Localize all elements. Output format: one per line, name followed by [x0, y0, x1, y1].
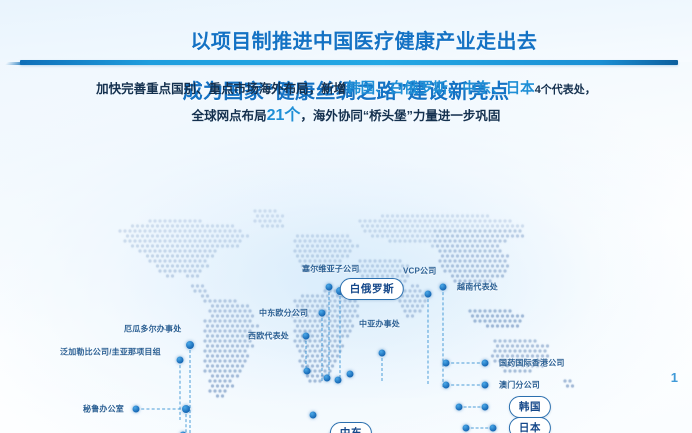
map-label-ecuador: 厄瓜多尔办事处 — [124, 324, 181, 335]
connector-line — [446, 363, 485, 364]
connector-line — [446, 385, 485, 386]
subtitle-count-unit: 个 — [284, 107, 300, 124]
subtitle-text-b: 4个代表处， — [535, 84, 596, 96]
map-label-peru: 秘鲁办公室 — [83, 404, 124, 415]
map-node-marker[interactable] — [379, 350, 386, 357]
map-node-marker[interactable] — [482, 360, 489, 367]
subtitle-line-1: 加快完善重点国别、重点市场海外布局，新增韩国、白俄罗斯、中东、日本4个代表处， — [0, 76, 692, 103]
subtitle-block: 加快完善重点国别、重点市场海外布局，新增韩国、白俄罗斯、中东、日本4个代表处， … — [0, 76, 692, 129]
map-label-west-europe: 西欧代表处 — [248, 331, 289, 342]
subtitle-highlight-middle-east: 中东 — [462, 81, 491, 97]
connector-line — [428, 294, 429, 384]
subtitle-text-a: 加快完善重点国别、重点市场海外布局，新增 — [96, 82, 346, 96]
subtitle-highlight-korea: 韩国 — [346, 81, 375, 97]
map-node-marker[interactable] — [482, 382, 489, 389]
subtitle-line-2: 全球网点布局21个，海外协同“桥头堡”力量进一步巩固 — [0, 103, 692, 129]
subtitle-highlight-japan: 日本 — [506, 81, 535, 97]
subtitle-highlight-belarus: 白俄罗斯 — [390, 81, 448, 97]
map-node-marker[interactable] — [443, 382, 450, 389]
map-node-marker[interactable] — [310, 412, 317, 419]
map-node-marker[interactable] — [490, 425, 497, 432]
map-label-hongkong: 国药国际香港公司 — [499, 358, 565, 369]
map-label-pan-caribbean: 泛加勒比公司/圭亚那项目组 — [60, 347, 161, 358]
connector-line — [340, 291, 341, 383]
map-node-marker[interactable] — [425, 291, 432, 298]
subtitle-text-c: 全球网点布局 — [192, 109, 267, 123]
map-node-marker[interactable] — [324, 375, 331, 382]
map-node-marker[interactable] — [463, 425, 470, 432]
world-map: 泛加勒比公司/圭亚那项目组厄瓜多尔办事处秘鲁办公室塞尔维亚子公司VCP公司中东欧… — [0, 128, 692, 433]
map-badge-japan[interactable]: 日本 — [509, 417, 551, 433]
map-node-marker[interactable] — [182, 405, 190, 413]
subtitle-sep-3: 、 — [491, 81, 506, 97]
map-label-vcp: VCP公司 — [403, 266, 436, 277]
page-number: 1 — [671, 370, 678, 385]
map-badge-belarus[interactable]: 白俄罗斯 — [340, 278, 404, 300]
connector-line — [329, 287, 330, 375]
map-label-vietnam: 越南代表处 — [457, 282, 498, 293]
subtitle-text-d: ，海外协同“桥头堡”力量进一步巩固 — [300, 109, 500, 123]
connector-line — [136, 409, 186, 410]
subtitle-sep-1: 、 — [375, 81, 390, 97]
map-node-marker[interactable] — [319, 310, 326, 317]
slide-header: 以项目制推进中国医疗健康产业走出去 成为国家“健康丝绸之路”建设新亮点 — [0, 0, 692, 62]
map-node-marker[interactable] — [440, 284, 447, 291]
map-node-marker[interactable] — [456, 404, 463, 411]
map-node-marker[interactable] — [133, 406, 140, 413]
map-badge-middle-east[interactable]: 中东 — [330, 422, 372, 433]
header-divider-rule — [20, 60, 678, 65]
map-label-serbia: 塞尔维亚子公司 — [302, 264, 359, 275]
slide-root: 以项目制推进中国医疗健康产业走出去 成为国家“健康丝绸之路”建设新亮点 加快完善… — [0, 0, 692, 433]
map-node-marker[interactable] — [177, 357, 184, 364]
map-label-macau: 澳门分公司 — [499, 380, 540, 391]
map-node-marker[interactable] — [326, 284, 333, 291]
map-node-marker[interactable] — [482, 404, 489, 411]
connector-line — [382, 353, 383, 381]
connector-line — [190, 345, 191, 433]
map-node-marker[interactable] — [335, 377, 342, 384]
map-node-marker[interactable] — [347, 371, 354, 378]
map-node-marker[interactable] — [443, 360, 450, 367]
map-label-central-asia: 中亚办事处 — [359, 319, 400, 330]
map-node-marker[interactable] — [304, 368, 311, 375]
map-node-marker[interactable] — [186, 341, 194, 349]
connector-line — [443, 287, 444, 387]
connector-line — [180, 360, 181, 420]
map-node-marker[interactable] — [303, 333, 310, 340]
map-label-cee: 中东欧分公司 — [259, 308, 308, 319]
title-line-1: 以项目制推进中国医疗健康产业走出去 — [190, 31, 537, 53]
map-badge-korea[interactable]: 韩国 — [509, 396, 551, 418]
subtitle-count-21: 21 — [267, 107, 285, 124]
connector-line — [322, 313, 323, 381]
subtitle-sep-2: 、 — [448, 81, 463, 97]
